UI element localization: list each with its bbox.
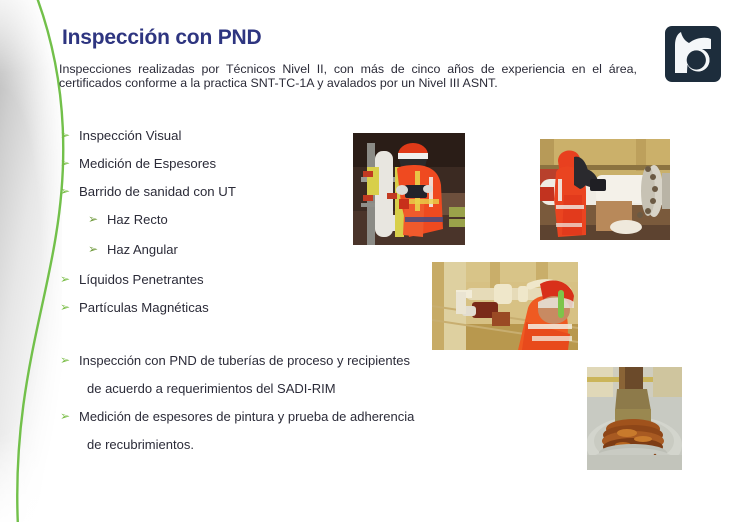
photo-inspector-ut-gauge xyxy=(353,133,465,245)
list-item-label: Medición de espesores de pintura y prueb… xyxy=(79,407,414,426)
list-item-label: Líquidos Penetrantes xyxy=(79,270,204,289)
photo-inspector-flanged-pipe xyxy=(540,139,670,240)
list-item-label: Haz Recto xyxy=(107,210,168,229)
list-item-label: de acuerdo a requerimientos del SADI-RIM xyxy=(79,379,336,398)
bullet-arrow-icon: ➢ xyxy=(60,126,79,145)
bullet-arrow-icon: ➢ xyxy=(60,298,79,317)
list-item-sub[interactable]: ➢ Haz Angular xyxy=(60,240,350,270)
list-item-label: Haz Angular xyxy=(107,240,178,259)
scope-bullet-list: ➢ Inspección con PND de tuberías de proc… xyxy=(60,351,530,463)
list-item-continuation: de acuerdo a requerimientos del SADI-RIM xyxy=(60,379,530,407)
list-item[interactable]: ➢ Inspección con PND de tuberías de proc… xyxy=(60,351,530,379)
list-item-continuation: de recubrimientos. xyxy=(60,435,530,463)
list-item[interactable]: ➢ Líquidos Penetrantes xyxy=(60,270,350,298)
list-item-label: Inspección con PND de tuberías de proces… xyxy=(79,351,410,370)
list-item-label: Partículas Magnéticas xyxy=(79,298,209,317)
company-logo-icon xyxy=(664,25,722,83)
photo-inspector-overhead-piping xyxy=(432,262,578,350)
list-item-label: de recubrimientos. xyxy=(79,435,194,454)
list-item[interactable]: ➢ Barrido de sanidad con UT xyxy=(60,182,350,210)
photo-corroded-support-base xyxy=(587,367,682,470)
list-item[interactable]: ➢ Medición de Espesores xyxy=(60,154,350,182)
bullet-spacer xyxy=(60,435,79,454)
list-item-label: Inspección Visual xyxy=(79,126,181,145)
bullet-arrow-icon: ➢ xyxy=(88,210,107,229)
list-item-label: Medición de Espesores xyxy=(79,154,216,173)
bullet-arrow-icon: ➢ xyxy=(60,182,79,201)
services-bullet-list: ➢ Inspección Visual ➢ Medición de Espeso… xyxy=(60,126,350,326)
bullet-arrow-icon: ➢ xyxy=(60,270,79,289)
list-item[interactable]: ➢ Partículas Magnéticas xyxy=(60,298,350,326)
bullet-arrow-icon: ➢ xyxy=(60,407,79,426)
list-item-sub[interactable]: ➢ Haz Recto xyxy=(60,210,350,240)
bullet-arrow-icon: ➢ xyxy=(60,154,79,173)
list-item[interactable]: ➢ Inspección Visual xyxy=(60,126,350,154)
bullet-arrow-icon: ➢ xyxy=(88,240,107,259)
list-item[interactable]: ➢ Medición de espesores de pintura y pru… xyxy=(60,407,530,435)
page-title: Inspección con PND xyxy=(62,26,261,50)
list-item-label: Barrido de sanidad con UT xyxy=(79,182,236,201)
intro-paragraph: Inspecciones realizadas por Técnicos Niv… xyxy=(59,63,637,90)
slide-canvas: Inspección con PND Inspecciones realizad… xyxy=(0,0,754,522)
bullet-spacer xyxy=(60,379,79,398)
bullet-arrow-icon: ➢ xyxy=(60,351,79,370)
